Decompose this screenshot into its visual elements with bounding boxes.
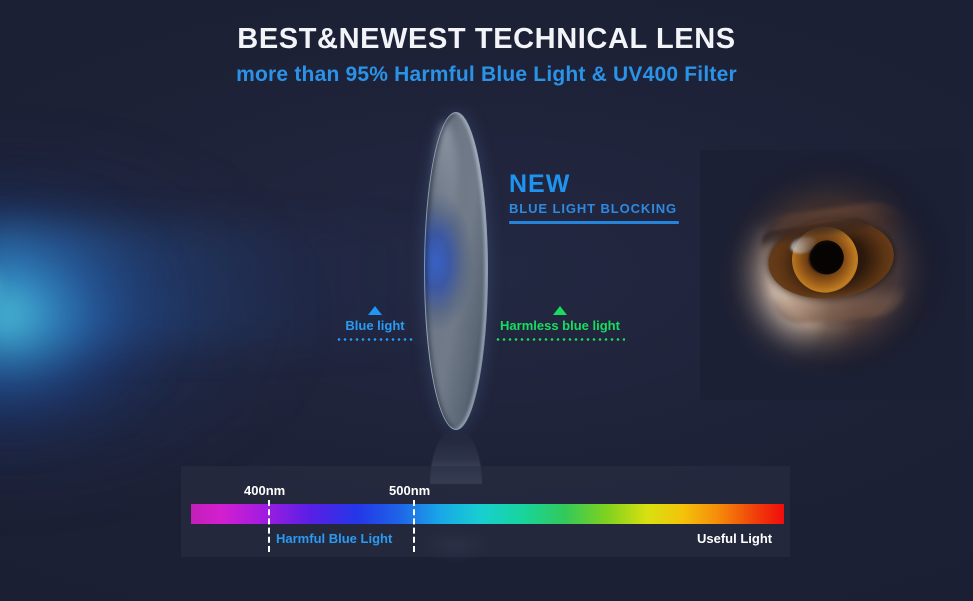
- feature-label: BLUE LIGHT BLOCKING: [509, 200, 679, 218]
- human-eye-photo: [700, 150, 965, 400]
- page-subtitle: more than 95% Harmful Blue Light & UV400…: [0, 60, 973, 90]
- spectrum-tick-500: 500nm: [389, 483, 430, 498]
- spectrum-tick-400: 400nm: [244, 483, 285, 498]
- beam-core-glow: [0, 170, 230, 460]
- page-title: BEST&NEWEST TECHNICAL LENS: [0, 22, 973, 56]
- tag-harmless-blue-light: Harmless blue light: [495, 306, 625, 341]
- triangle-up-icon: [368, 306, 382, 315]
- tag-harmless-underline: [495, 338, 625, 341]
- triangle-up-icon: [553, 306, 567, 315]
- promo-banner: BEST&NEWEST TECHNICAL LENS more than 95%…: [0, 0, 973, 601]
- spectrum-divider-500: [413, 500, 415, 552]
- spectrum-gradient-bar: [191, 504, 784, 524]
- new-badge-label: NEW: [509, 171, 679, 198]
- lens-rim: [424, 112, 488, 430]
- eyeglass-lens: [424, 112, 488, 462]
- spectrum-divider-400: [268, 500, 270, 552]
- callout-underline: [509, 221, 679, 224]
- tag-harmless-label: Harmless blue light: [495, 318, 625, 334]
- new-feature-callout: NEW BLUE LIGHT BLOCKING: [509, 171, 679, 224]
- header-block: BEST&NEWEST TECHNICAL LENS more than 95%…: [0, 22, 973, 90]
- tag-blue-light-underline: [336, 338, 414, 341]
- tag-blue-light-label: Blue light: [336, 318, 414, 334]
- tag-blue-light: Blue light: [336, 306, 414, 341]
- harmful-blue-light-label: Harmful Blue Light: [276, 531, 392, 546]
- eye-vignette: [700, 150, 965, 400]
- useful-light-label: Useful Light: [697, 531, 772, 546]
